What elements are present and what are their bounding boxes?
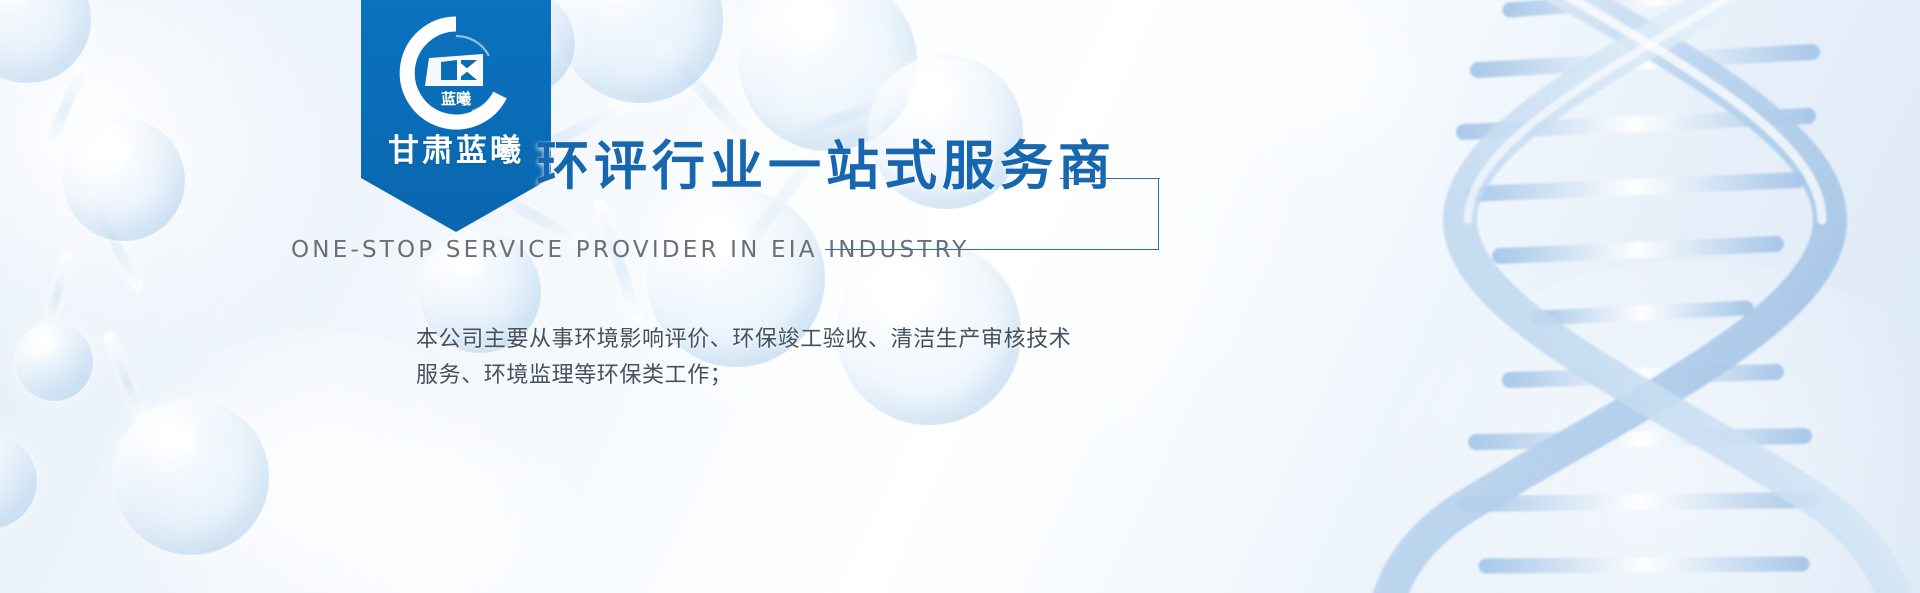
background-glow	[300, 400, 600, 593]
description-line-2: 服务、环境监理等环保类工作；	[416, 358, 1196, 394]
dna-helix-illustration	[1360, 0, 1920, 593]
page-subtitle: ONE-STOP SERVICE PROVIDER IN EIA INDUSTR…	[291, 237, 970, 263]
description-line-1: 本公司主要从事环境影响评价、环保竣工验收、清洁生产审核技术	[416, 322, 1196, 358]
hero-banner: 蓝曦 甘肃蓝曦 环评行业一站式服务商 ONE-STOP SERVICE PROV…	[0, 0, 1920, 593]
company-description: 本公司主要从事环境影响评价、环保竣工验收、清洁生产审核技术 服务、环境监理等环保…	[416, 322, 1196, 394]
background-glow	[1180, 0, 1480, 200]
logo-wordmark: 蓝曦	[441, 90, 471, 108]
subtitle-rule	[825, 249, 1159, 250]
headline-rule	[1060, 178, 1160, 179]
page-title: 环评行业一站式服务商	[536, 140, 1116, 193]
lanxi-emblem-icon: 蓝曦	[397, 14, 515, 132]
company-name: 甘肃蓝曦	[388, 136, 524, 167]
background-glow	[0, 0, 400, 380]
headline-bracket	[1158, 178, 1159, 249]
background-glow	[1380, 260, 1920, 593]
company-badge: 蓝曦 甘肃蓝曦	[361, 0, 551, 232]
